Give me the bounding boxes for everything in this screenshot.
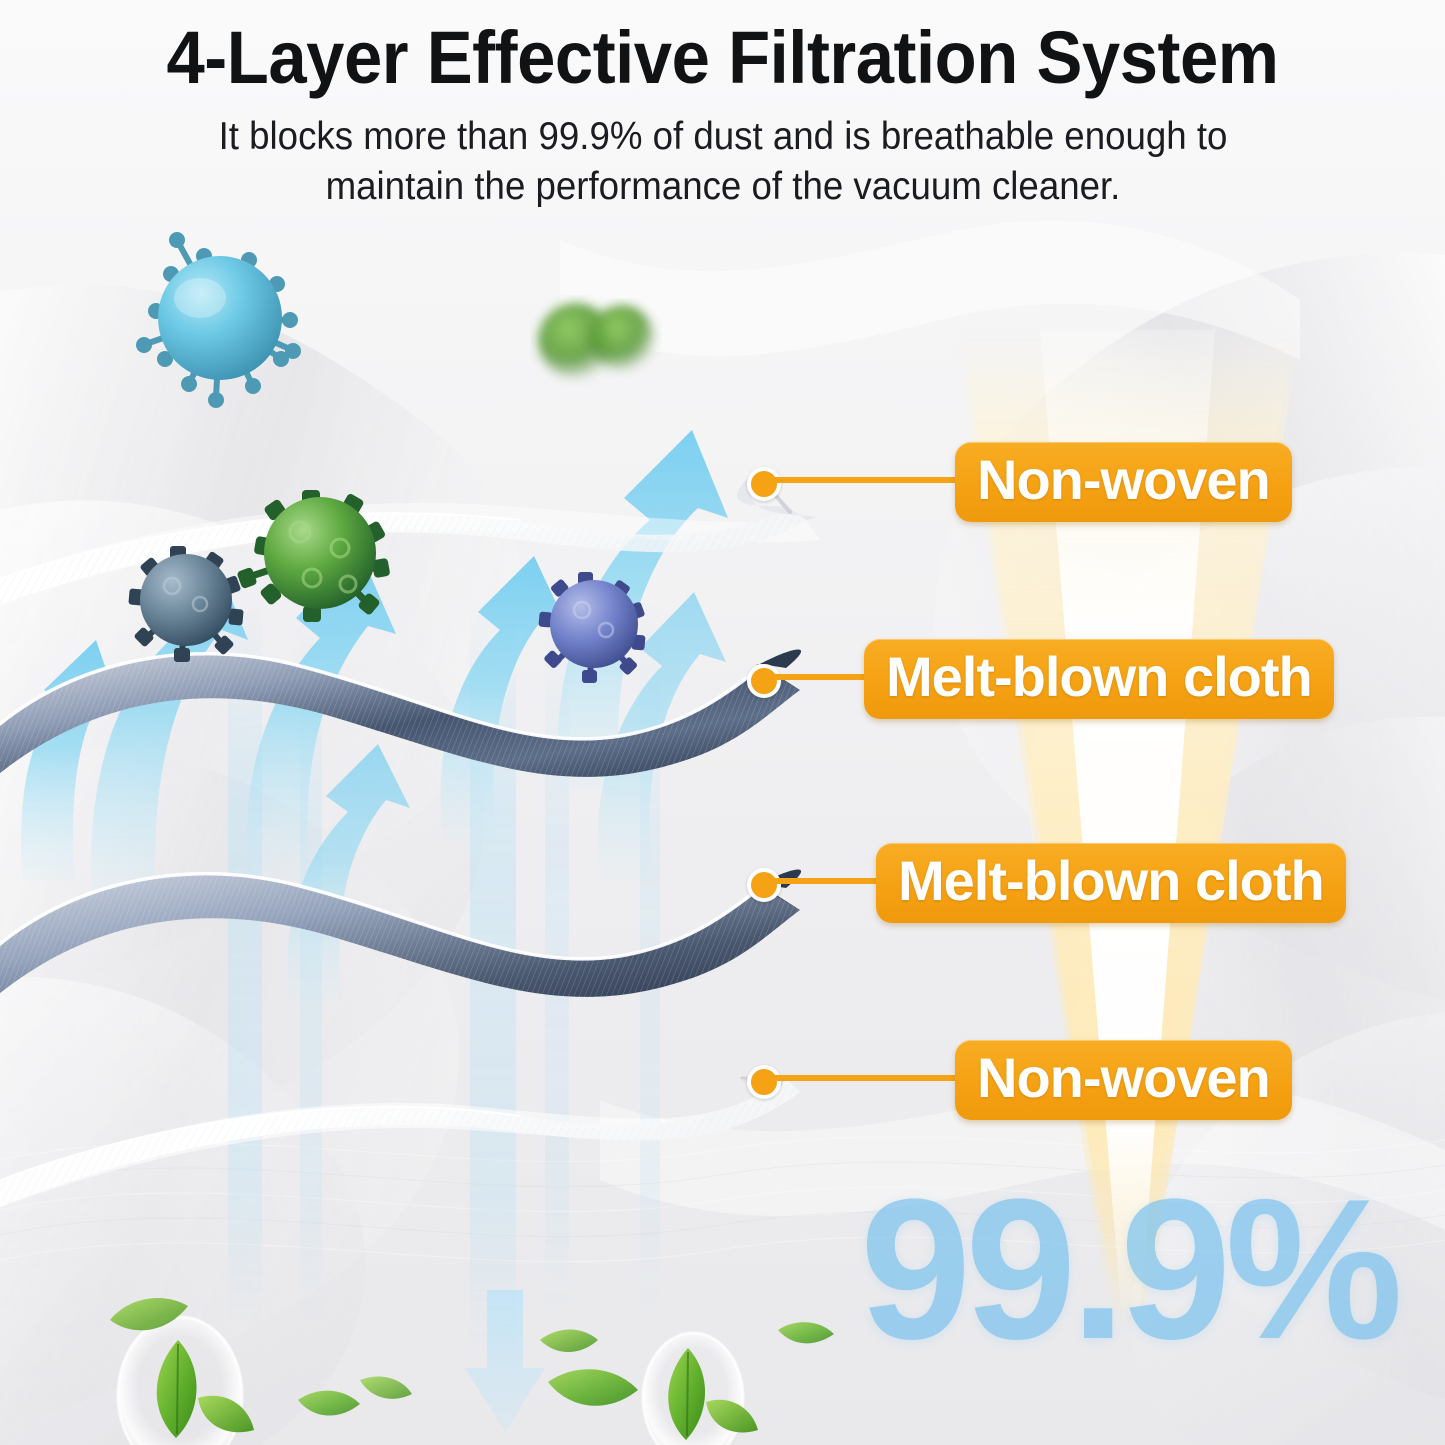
callout-leader-line-3 (770, 878, 880, 884)
leaf-icon-5 (110, 1298, 188, 1330)
header-block: 4-Layer Effective Filtration System It b… (0, 0, 1445, 212)
bubble-left (118, 1317, 242, 1445)
callout-leader-line-4 (770, 1075, 960, 1081)
up-arrow-icon-7 (598, 592, 726, 880)
pollen-green-1 (538, 303, 614, 379)
bubble-right (643, 1333, 743, 1445)
layer-label-2[interactable]: Melt-blown cloth (864, 639, 1334, 719)
up-arrow-icon-6 (558, 430, 728, 790)
pollen-green-2 (589, 305, 655, 371)
virus-steel-blue (128, 546, 243, 662)
virus-indigo (538, 572, 645, 683)
layer-2-melt-blown (0, 649, 801, 790)
leaf-icon-9 (540, 1330, 598, 1353)
up-arrow-icon-1 (21, 640, 118, 880)
down-arrow-icon (465, 1290, 545, 1432)
leaf-icon-2 (198, 1396, 254, 1432)
page-subtitle: It blocks more than 99.9% of dust and is… (168, 112, 1277, 212)
leaf-icon-3 (668, 1348, 705, 1440)
subtitle-line-1: It blocks more than 99.9% of dust and is… (168, 112, 1277, 162)
callout-dot-4 (747, 1065, 781, 1099)
leaf-icon-8 (548, 1369, 638, 1406)
subtitle-line-2: maintain the performance of the vacuum c… (168, 162, 1277, 212)
leaf-icon-10 (778, 1322, 834, 1343)
callout-leader-line-2 (770, 674, 870, 680)
layer-3-melt-blown (0, 869, 801, 1010)
layer-label-4[interactable]: Non-woven (955, 1040, 1292, 1120)
leaf-icon-4 (706, 1400, 758, 1433)
airflow-columns (228, 590, 660, 1350)
up-arrow-icon-4 (441, 556, 568, 840)
up-arrow-icon-3 (247, 552, 396, 880)
virus-green (236, 490, 390, 622)
layer-label-1[interactable]: Non-woven (955, 442, 1292, 522)
leaf-icon-1 (157, 1340, 197, 1438)
virus-cyan-large (136, 232, 301, 408)
up-arrow-icon-5 (287, 744, 410, 1000)
infographic-canvas: 99.9% 4-Layer Effective Filtration Syste… (0, 0, 1445, 1445)
callout-leader-line-1 (770, 477, 960, 483)
up-arrow-icon-2 (91, 556, 248, 900)
layer-4-non-woven (0, 1074, 800, 1215)
callout-dot-1 (747, 467, 781, 501)
filtration-percentage: 99.9% (860, 1170, 1397, 1370)
callout-dot-2 (747, 664, 781, 698)
page-title: 4-Layer Effective Filtration System (51, 18, 1395, 98)
layer-1-non-woven (0, 474, 820, 612)
leaf-icon-7 (360, 1376, 412, 1398)
leaf-icon-6 (298, 1391, 360, 1416)
layer-label-3[interactable]: Melt-blown cloth (876, 843, 1346, 923)
callout-dot-3 (747, 868, 781, 902)
